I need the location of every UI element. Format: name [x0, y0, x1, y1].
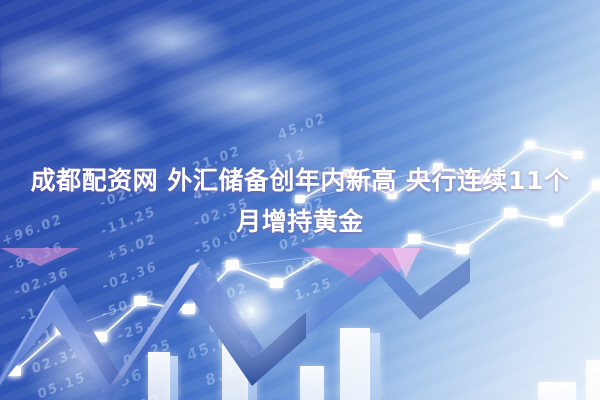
- news-banner: +96.02 -02.35 21.02 45.02 -89.36 -11.25 …: [0, 0, 600, 400]
- ribbon-secondary: [306, 252, 470, 336]
- headline-line-2: 月增持黄金: [16, 201, 584, 242]
- headline-text: 成都配资网 外汇储备创年内新高 央行连续11个 月增持黄金: [0, 160, 600, 242]
- headline-line-1: 成都配资网 外汇储备创年内新高 央行连续11个: [31, 166, 570, 195]
- ribbon-body: [0, 258, 312, 400]
